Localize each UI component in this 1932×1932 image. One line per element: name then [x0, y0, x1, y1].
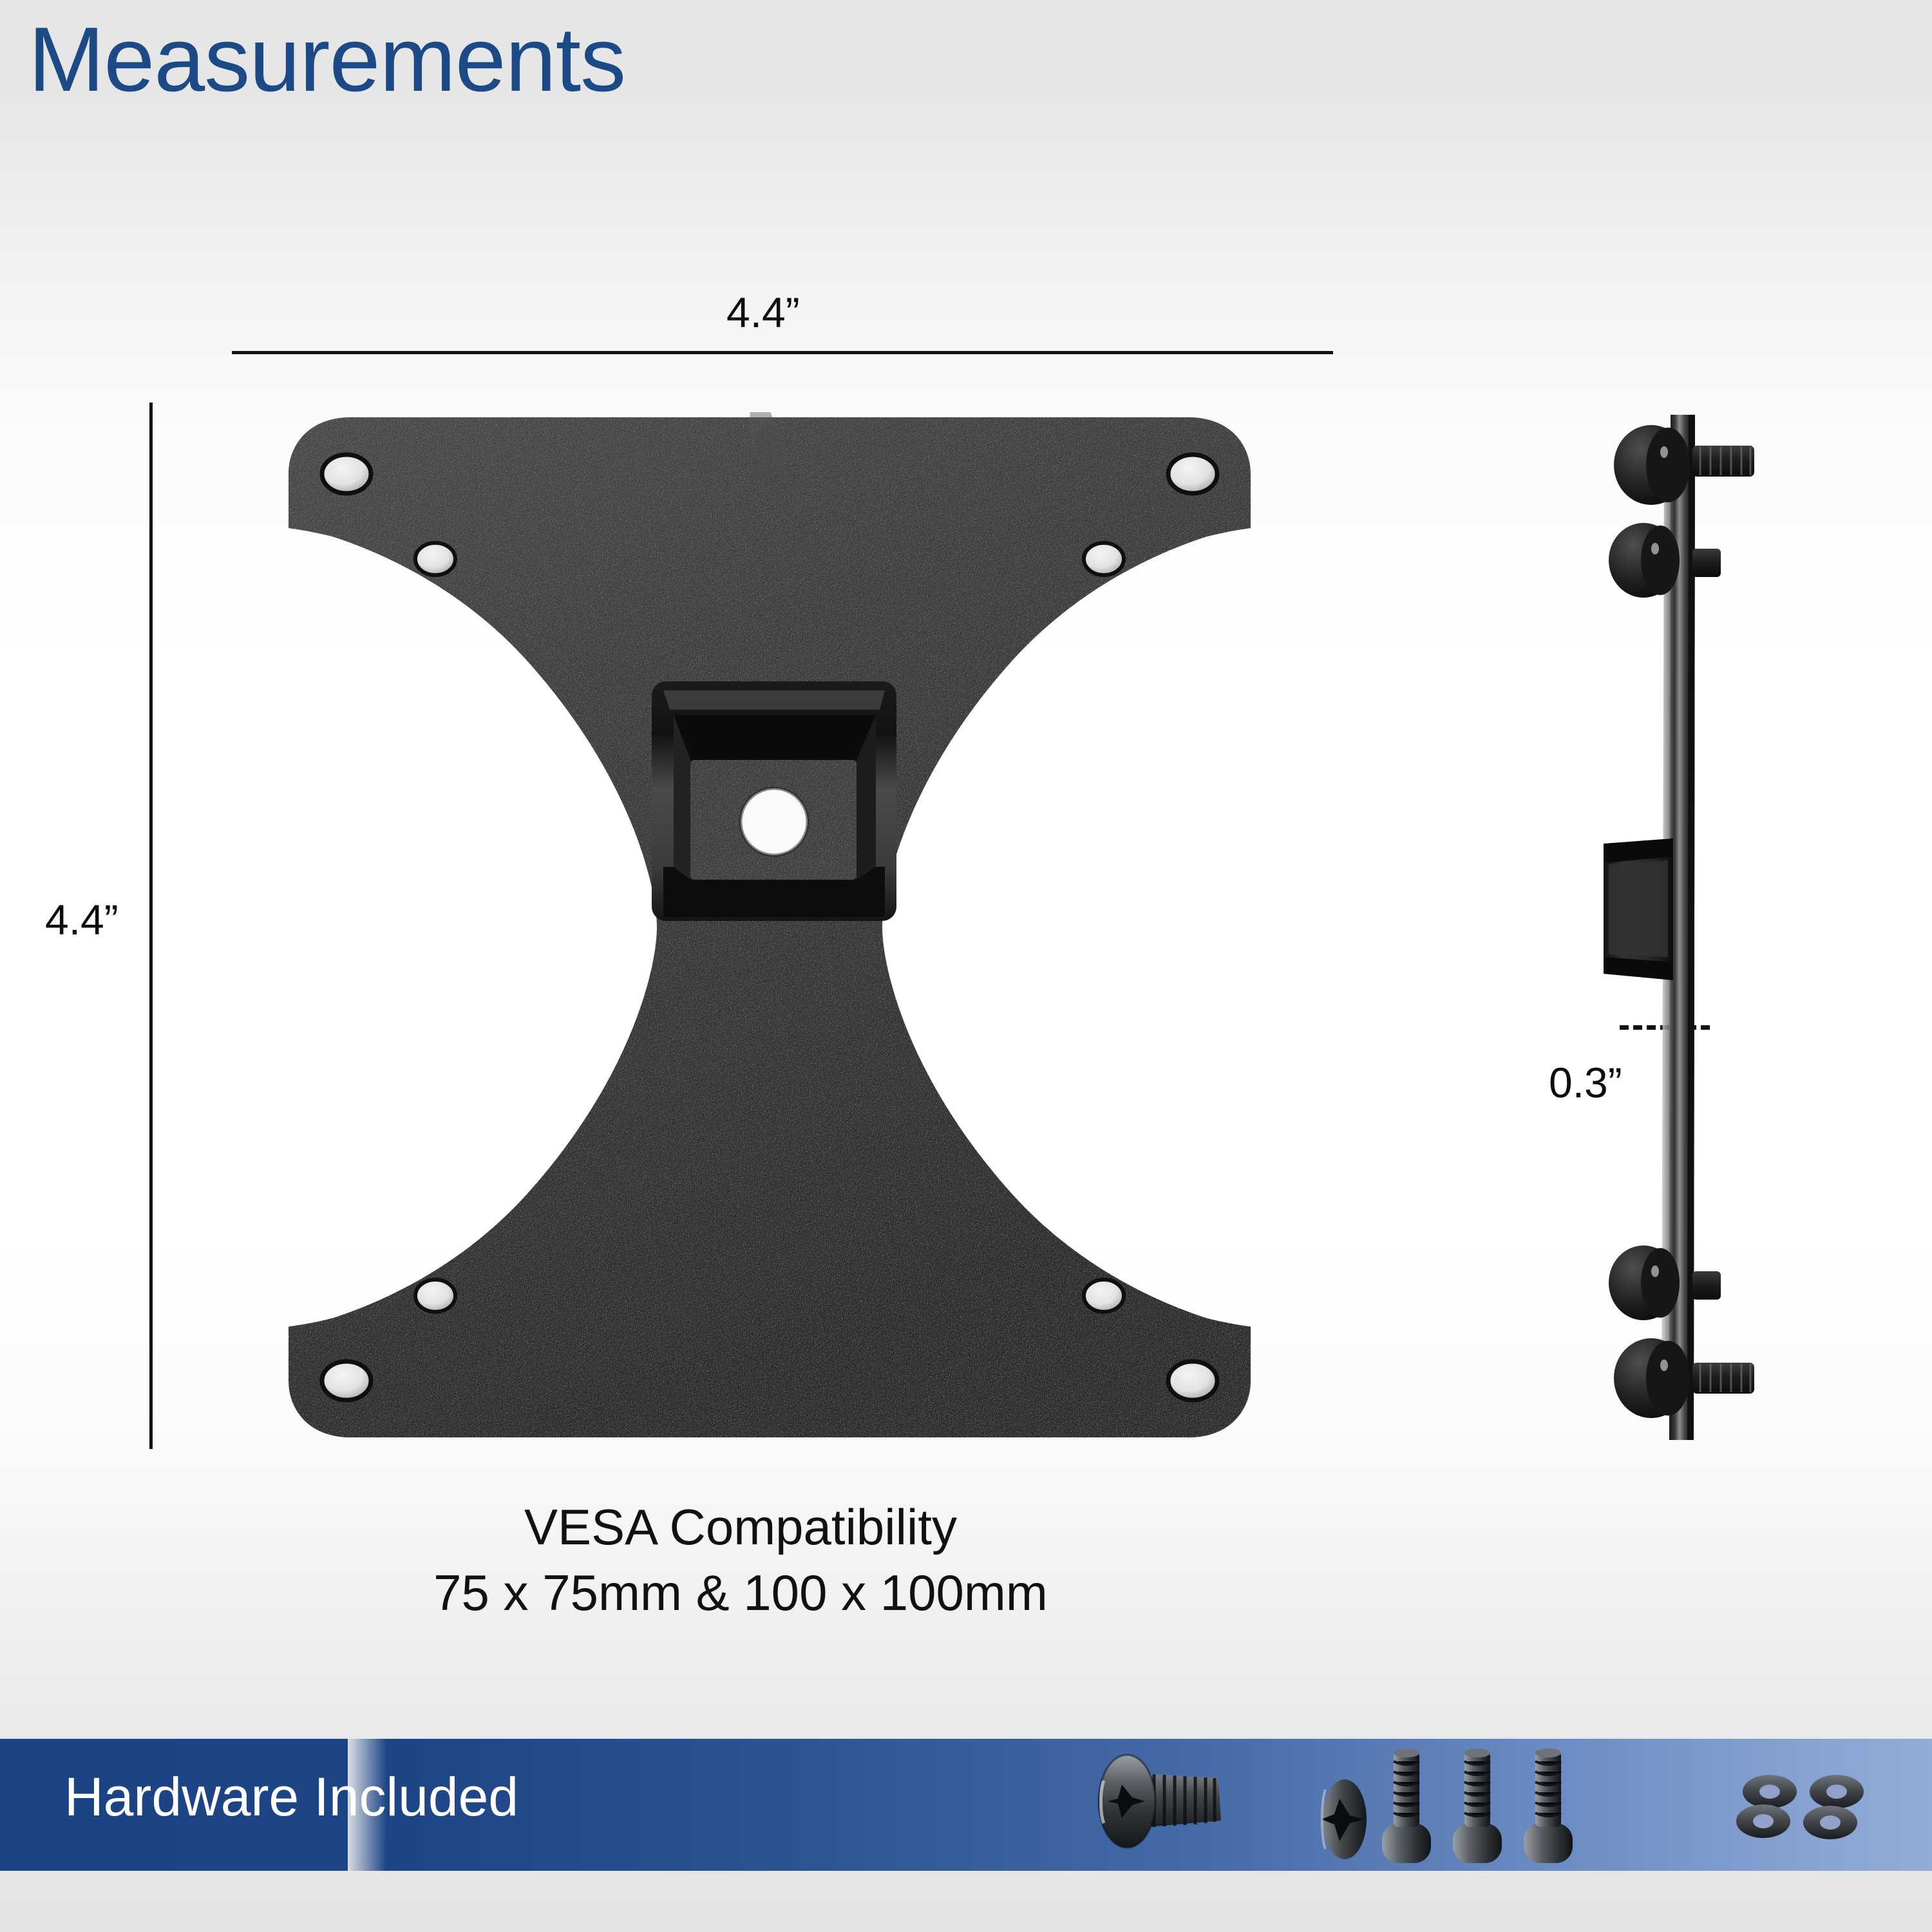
width-dimension-label: 4.4” — [726, 291, 800, 334]
hardware-included-label: Hardware Included — [64, 1770, 518, 1824]
flat-washer-icon — [1736, 1804, 1790, 1838]
mounting-hole-outer-bottom-left — [322, 1361, 371, 1400]
mounting-hole-inner-top-right — [1084, 543, 1124, 575]
screws-group — [1314, 1747, 1674, 1866]
mounting-hole-inner-top-left — [415, 543, 455, 575]
flat-washer-icon — [1743, 1775, 1797, 1808]
flat-head-screw-head-icon — [1321, 1779, 1367, 1859]
measurements-page: Measurements 4.4” 4.4” 0.3” — [0, 0, 1932, 1932]
center-mount-bracket — [652, 681, 896, 927]
flat-head-bolt-icon — [1082, 1754, 1275, 1857]
height-dimension-line — [149, 402, 153, 1449]
mounting-hole-outer-top-right — [1168, 455, 1217, 493]
pan-head-wood-screw-icon — [1453, 1748, 1502, 1863]
vesa-compatibility-heading: VESA Compatibility — [0, 1499, 1481, 1555]
mounting-hole-outer-bottom-right — [1168, 1361, 1217, 1400]
screw-shaft — [1692, 1363, 1754, 1394]
width-dimension-line — [232, 351, 1333, 354]
pan-head-wood-screw-icon — [1524, 1748, 1573, 1863]
flat-washer-icon — [1803, 1806, 1857, 1839]
mounting-hole-inner-bottom-left — [415, 1280, 455, 1312]
page-title: Measurements — [28, 14, 625, 106]
top-screw-assembly-second — [1609, 523, 1721, 598]
mounting-hole-outer-top-left — [322, 455, 371, 493]
vesa-plate-side-view — [1597, 406, 1868, 1449]
height-dimension-label: 4.4” — [45, 898, 118, 941]
flat-washer-icon — [1810, 1775, 1864, 1808]
pan-head-wood-screw-icon — [1382, 1748, 1431, 1863]
screw-shaft — [1692, 446, 1754, 477]
center-mount-block-profile — [1604, 838, 1673, 980]
washers-group — [1732, 1771, 1900, 1848]
vesa-pattern-values: 75 x 75mm & 100 x 100mm — [0, 1565, 1481, 1621]
mounting-hole-inner-bottom-right — [1084, 1280, 1124, 1312]
vesa-plate-front-view — [213, 412, 1327, 1443]
bottom-screw-assembly-first — [1609, 1245, 1721, 1320]
